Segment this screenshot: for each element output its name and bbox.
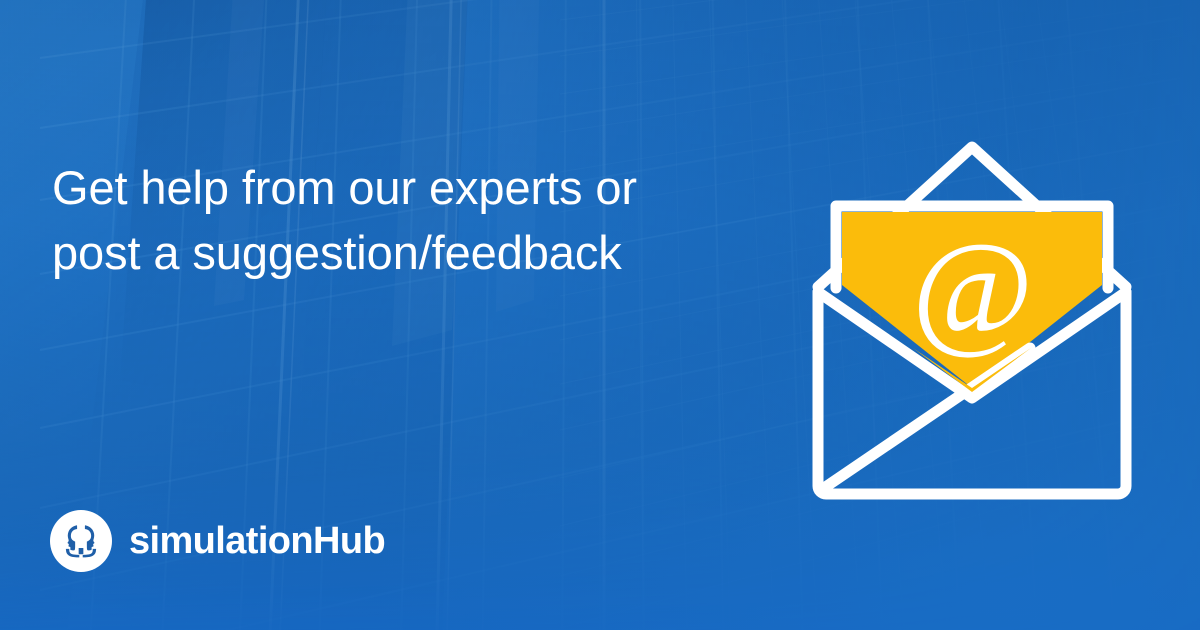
- at-symbol-icon: @: [911, 215, 1032, 362]
- logo-wordmark: simulationHub: [129, 522, 385, 560]
- promo-banner: Get help from our experts or post a sugg…: [0, 0, 1200, 630]
- brand-logo[interactable]: simulationHub: [50, 510, 385, 572]
- page-title: Get help from our experts or post a sugg…: [52, 155, 692, 285]
- two-faces-lightbulb-icon: [50, 510, 112, 572]
- svg-text:@: @: [911, 215, 1032, 362]
- envelope-icon: @: [780, 120, 1180, 520]
